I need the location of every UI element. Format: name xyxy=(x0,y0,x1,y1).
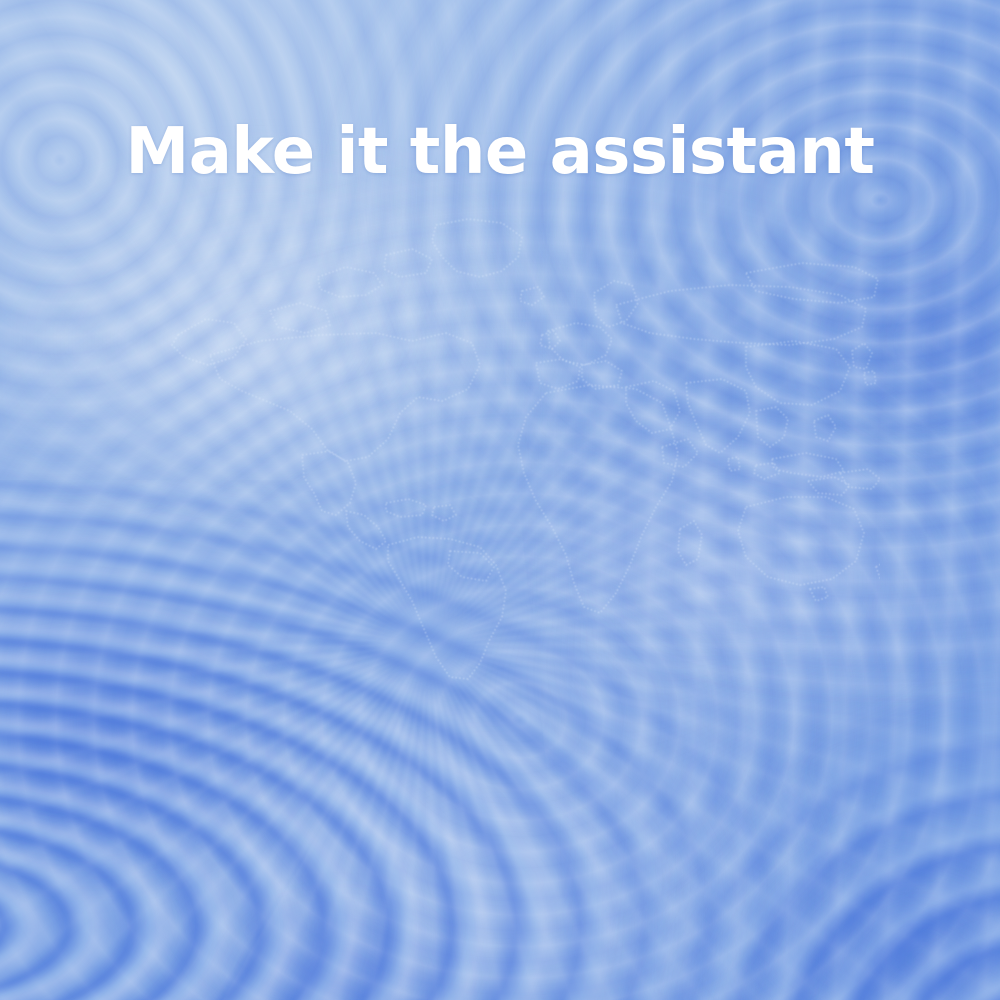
headline-text: Make it the assistant xyxy=(0,118,1000,187)
world-map-graphic xyxy=(150,215,880,685)
graphic-canvas: Make it the assistant xyxy=(0,0,1000,1000)
